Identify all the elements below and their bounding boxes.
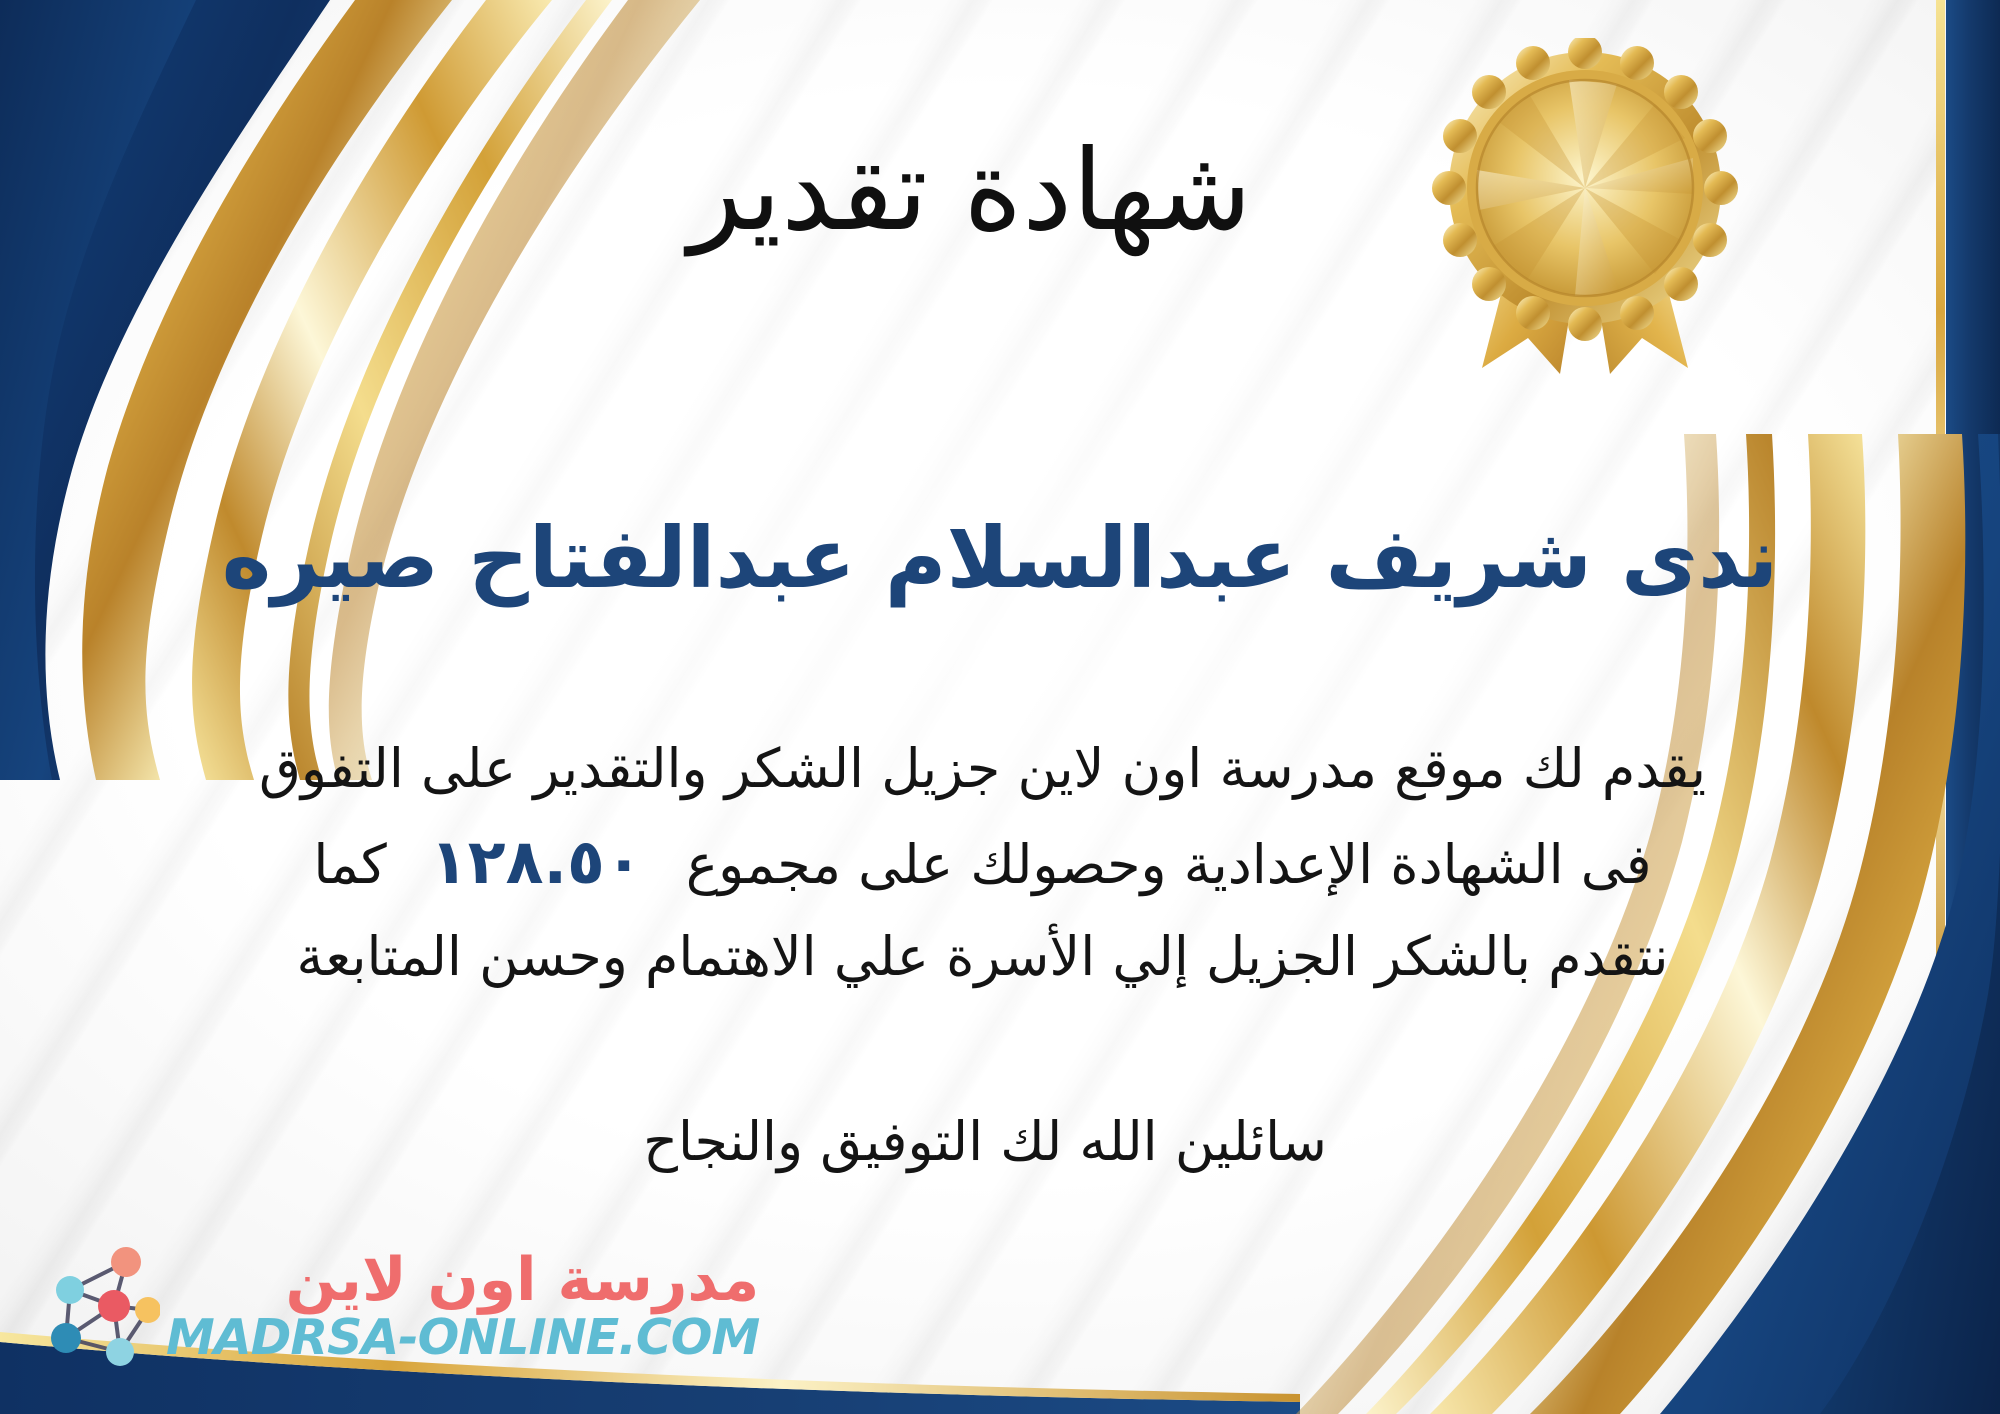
brand-name-arabic: مدرسة اون لاين (285, 1249, 759, 1312)
brand-text: مدرسة اون لاين MADRSA-ONLINE.COM (166, 1249, 759, 1363)
brand-website-url: MADRSA-ONLINE.COM (166, 1312, 759, 1363)
certificate-body: يقدم لك موقع مدرسة اون لاين جزيل الشكر و… (55, 725, 1910, 1000)
body-line-2-suffix: كما (313, 833, 386, 896)
body-line-3: نتقدم بالشكر الجزيل إلي الأسرة علي الاهت… (55, 913, 1910, 1000)
grade-total-value: ١٢٨.٥٠ (404, 825, 669, 898)
closing-wish: سائلين الله لك التوفيق والنجاح (0, 1110, 2000, 1173)
page-title: شهادة تقدير (0, 130, 2000, 253)
body-line-2: فى الشهادة الإعدادية وحصولك على مجموع ١٢… (55, 812, 1910, 912)
body-line-1: يقدم لك موقع مدرسة اون لاين جزيل الشكر و… (55, 725, 1910, 812)
body-line-2-prefix: فى الشهادة الإعدادية وحصولك على مجموع (686, 833, 1652, 896)
certificate-canvas: شهادة تقدير ندى شريف عبدالسلام عبدالفتاح… (0, 0, 2000, 1414)
network-nodes-icon (40, 1244, 160, 1369)
certificate-content: شهادة تقدير ندى شريف عبدالسلام عبدالفتاح… (0, 0, 2000, 1414)
recipient-name: ندى شريف عبدالسلام عبدالفتاح صيره (0, 510, 2000, 607)
brand-logo[interactable]: مدرسة اون لاين MADRSA-ONLINE.COM (40, 1226, 600, 1386)
